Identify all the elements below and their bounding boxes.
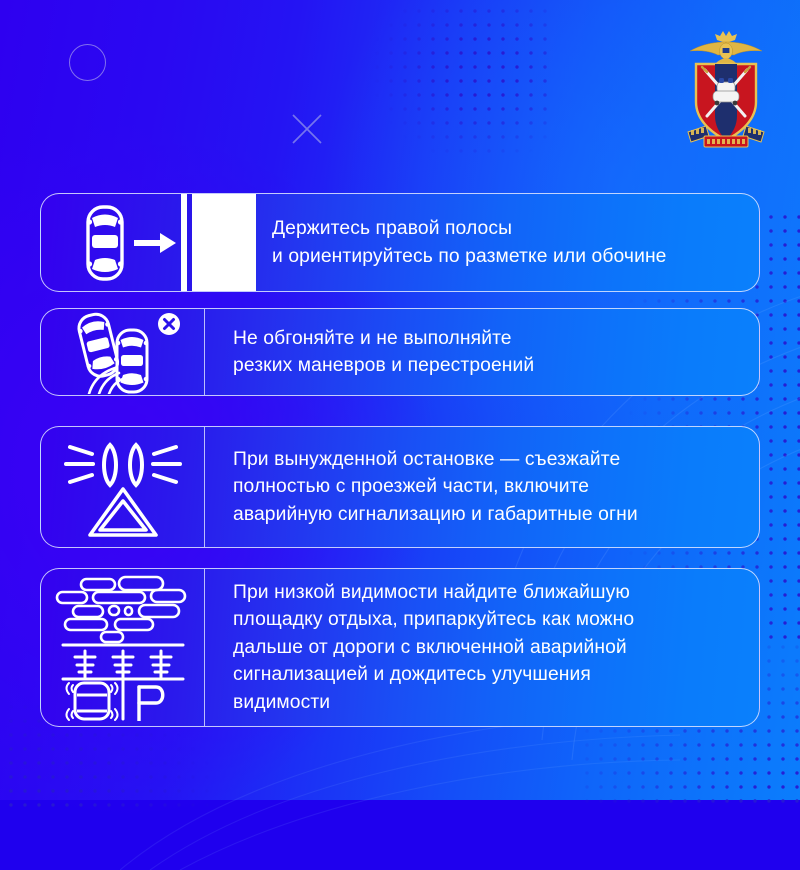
card-divider xyxy=(204,569,205,726)
no-overtaking-icon xyxy=(59,310,187,394)
advice-card-text: Держитесь правой полосы и ориентируйтесь… xyxy=(204,215,759,270)
card-icon-slot xyxy=(41,569,204,726)
hazard-lights-warning-triangle-icon xyxy=(60,435,186,540)
road-marking-band xyxy=(181,194,256,291)
card-icon-slot xyxy=(41,309,204,395)
advice-card-keep-right-lane[interactable]: Держитесь правой полосы и ориентируйтесь… xyxy=(40,193,760,292)
advice-card-text: При вынужденной остановке — съезжайте по… xyxy=(204,446,759,528)
advice-card-low-visibility-parking[interactable]: При низкой видимости найдите ближайшую п… xyxy=(40,568,760,727)
advice-card-no-overtaking[interactable]: Не обгоняйте и не выполняйте резких мане… xyxy=(40,308,760,396)
card-icon-slot xyxy=(41,194,204,291)
advice-card-text: При низкой видимости найдите ближайшую п… xyxy=(204,579,759,716)
fog-rest-area-parking-icon xyxy=(53,575,193,721)
card-icon-slot xyxy=(41,427,204,547)
gibdd-emblem xyxy=(674,24,778,156)
emblem-eagle xyxy=(690,31,762,63)
car-keep-right-icon xyxy=(64,202,182,284)
card-divider xyxy=(204,309,205,395)
advice-card-forced-stop[interactable]: При вынужденной остановке — съезжайте по… xyxy=(40,426,760,548)
advice-card-text: Не обгоняйте и не выполняйте резких мане… xyxy=(204,325,759,380)
x-badge-icon xyxy=(158,313,180,335)
card-divider xyxy=(204,427,205,547)
